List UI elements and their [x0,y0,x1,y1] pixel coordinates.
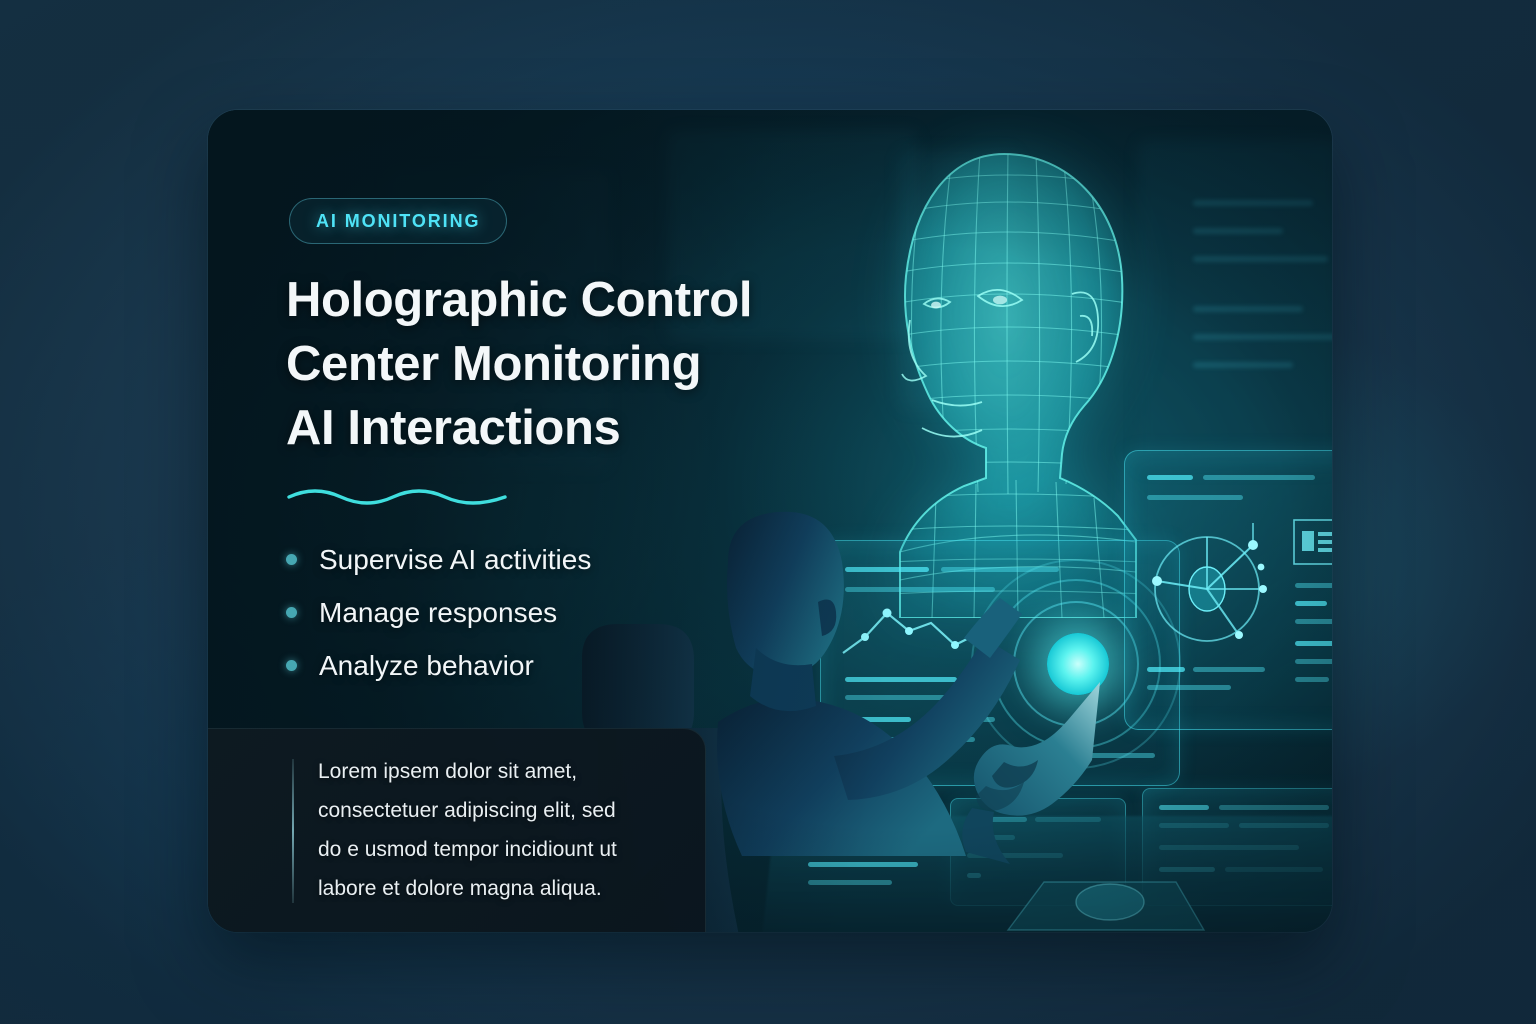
status-badge[interactable]: AI MONITORING [289,198,507,244]
background-text-line [1193,362,1293,368]
list-item-label: Analyze behavior [319,650,534,682]
headline-line-3: AI Interactions [286,401,620,455]
list-item-label: Manage responses [319,597,557,629]
background-text-line [1193,334,1332,340]
list-item[interactable]: Analyze behavior [286,639,806,692]
badge-label: AI MONITORING [316,211,480,232]
quote-line-3: do e usmod tempor incidiount ut [318,838,617,861]
hero-card: AI MONITORING Holographic Control Center… [208,110,1332,932]
list-item[interactable]: Manage responses [286,586,806,639]
quote-line-1: Lorem ipsem dolor sit amet, [318,760,577,783]
eye-highlight [993,296,1007,305]
quote-line-2: consectetuer adipiscing elit, sed [318,799,616,822]
background-text-line [1193,306,1303,312]
eye-highlight [931,302,941,309]
headline-line-1: Holographic Control [286,273,752,327]
feature-list: Supervise AI activities Manage responses… [286,533,806,692]
list-item-label: Supervise AI activities [319,544,591,576]
radial-pie-chart [1145,517,1295,657]
radial-chart-panel[interactable] [1124,450,1332,730]
bullet-dot-icon [286,660,297,671]
headline-line-2: Center Monitoring [286,337,701,391]
wavy-divider-icon [286,485,508,505]
bullet-dot-icon [286,607,297,618]
quote-accent-rule [292,759,294,903]
list-item[interactable]: Supervise AI activities [286,533,806,586]
pointing-hand [950,676,1110,866]
background-panel-shape [1138,140,1332,470]
background-text-line [1193,256,1328,262]
background-text-line [1193,200,1313,206]
page-title: Holographic Control Center Monitoring AI… [286,268,826,460]
quote-text: Lorem ipsem dolor sit amet, consectetuer… [318,752,678,908]
quote-panel: Lorem ipsem dolor sit amet, consectetuer… [208,728,706,932]
bullet-dot-icon [286,554,297,565]
quote-line-4: labore et dolore magna aliqua. [318,877,602,900]
background-text-line [1193,228,1283,234]
list-block-icon [1293,519,1332,565]
